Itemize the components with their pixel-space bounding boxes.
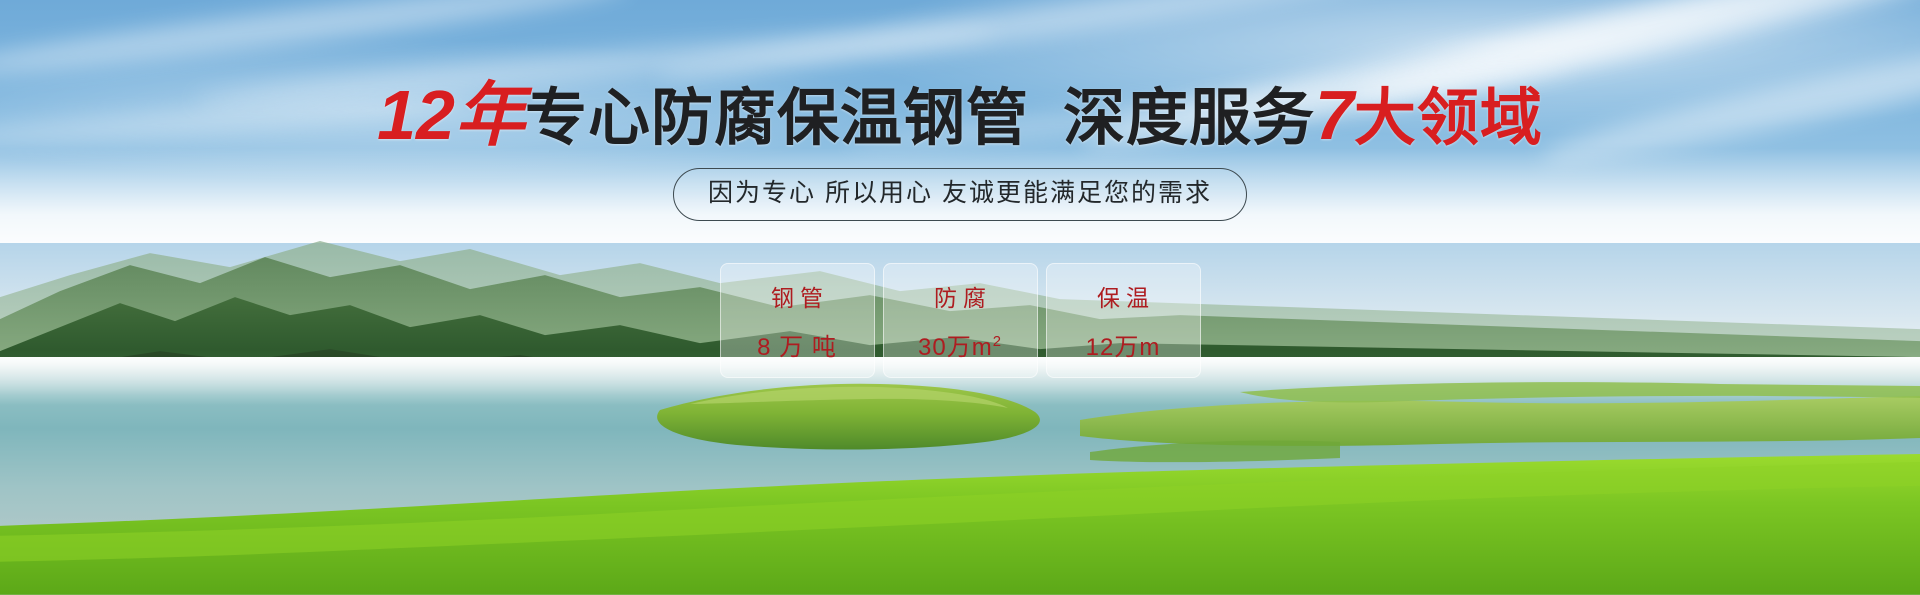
stat-card-value-text: 12万m	[1086, 334, 1161, 361]
headline-fields-unit-red: 大领域	[1354, 84, 1543, 153]
stat-card-value: 12万m	[1086, 327, 1161, 362]
stat-card-title: 防腐	[928, 279, 992, 313]
headline-fields-number: 7	[1315, 76, 1354, 154]
stat-card-value: 8 万 吨	[757, 327, 837, 362]
stat-card-value-text: 30万m	[918, 334, 993, 361]
headline-service-prefix: 深度服务	[1063, 84, 1315, 153]
headline-years-unit: 年	[455, 76, 525, 154]
stat-card-value-superscript: 2	[993, 334, 1002, 350]
subtitle-wrapper: 因为专心 所以用心 友诚更能满足您的需求	[0, 168, 1920, 221]
stat-card-anticorrosion[interactable]: 防腐 30万m2	[883, 263, 1038, 378]
stat-card-steel-pipe[interactable]: 钢管 8 万 吨	[720, 263, 875, 378]
stat-card-value-text: 8 万 吨	[757, 334, 837, 361]
stat-card-insulation[interactable]: 保温 12万m	[1046, 263, 1201, 378]
stat-card-title: 钢管	[765, 279, 829, 313]
stat-card-title: 保温	[1091, 279, 1155, 313]
headline: 12年专心防腐保温钢管深度服务7大领域	[0, 80, 1920, 150]
stat-card-list: 钢管 8 万 吨 防腐 30万m2 保温 12万m	[0, 263, 1920, 378]
banner-content: 12年专心防腐保温钢管深度服务7大领域 因为专心 所以用心 友诚更能满足您的需求…	[0, 0, 1920, 595]
headline-main-text: 专心防腐保温钢管	[525, 84, 1029, 153]
subtitle-pill: 因为专心 所以用心 友诚更能满足您的需求	[673, 168, 1247, 221]
headline-years-number: 12	[377, 76, 455, 154]
hero-banner: 12年专心防腐保温钢管深度服务7大领域 因为专心 所以用心 友诚更能满足您的需求…	[0, 0, 1920, 595]
stat-card-value: 30万m2	[918, 327, 1002, 362]
